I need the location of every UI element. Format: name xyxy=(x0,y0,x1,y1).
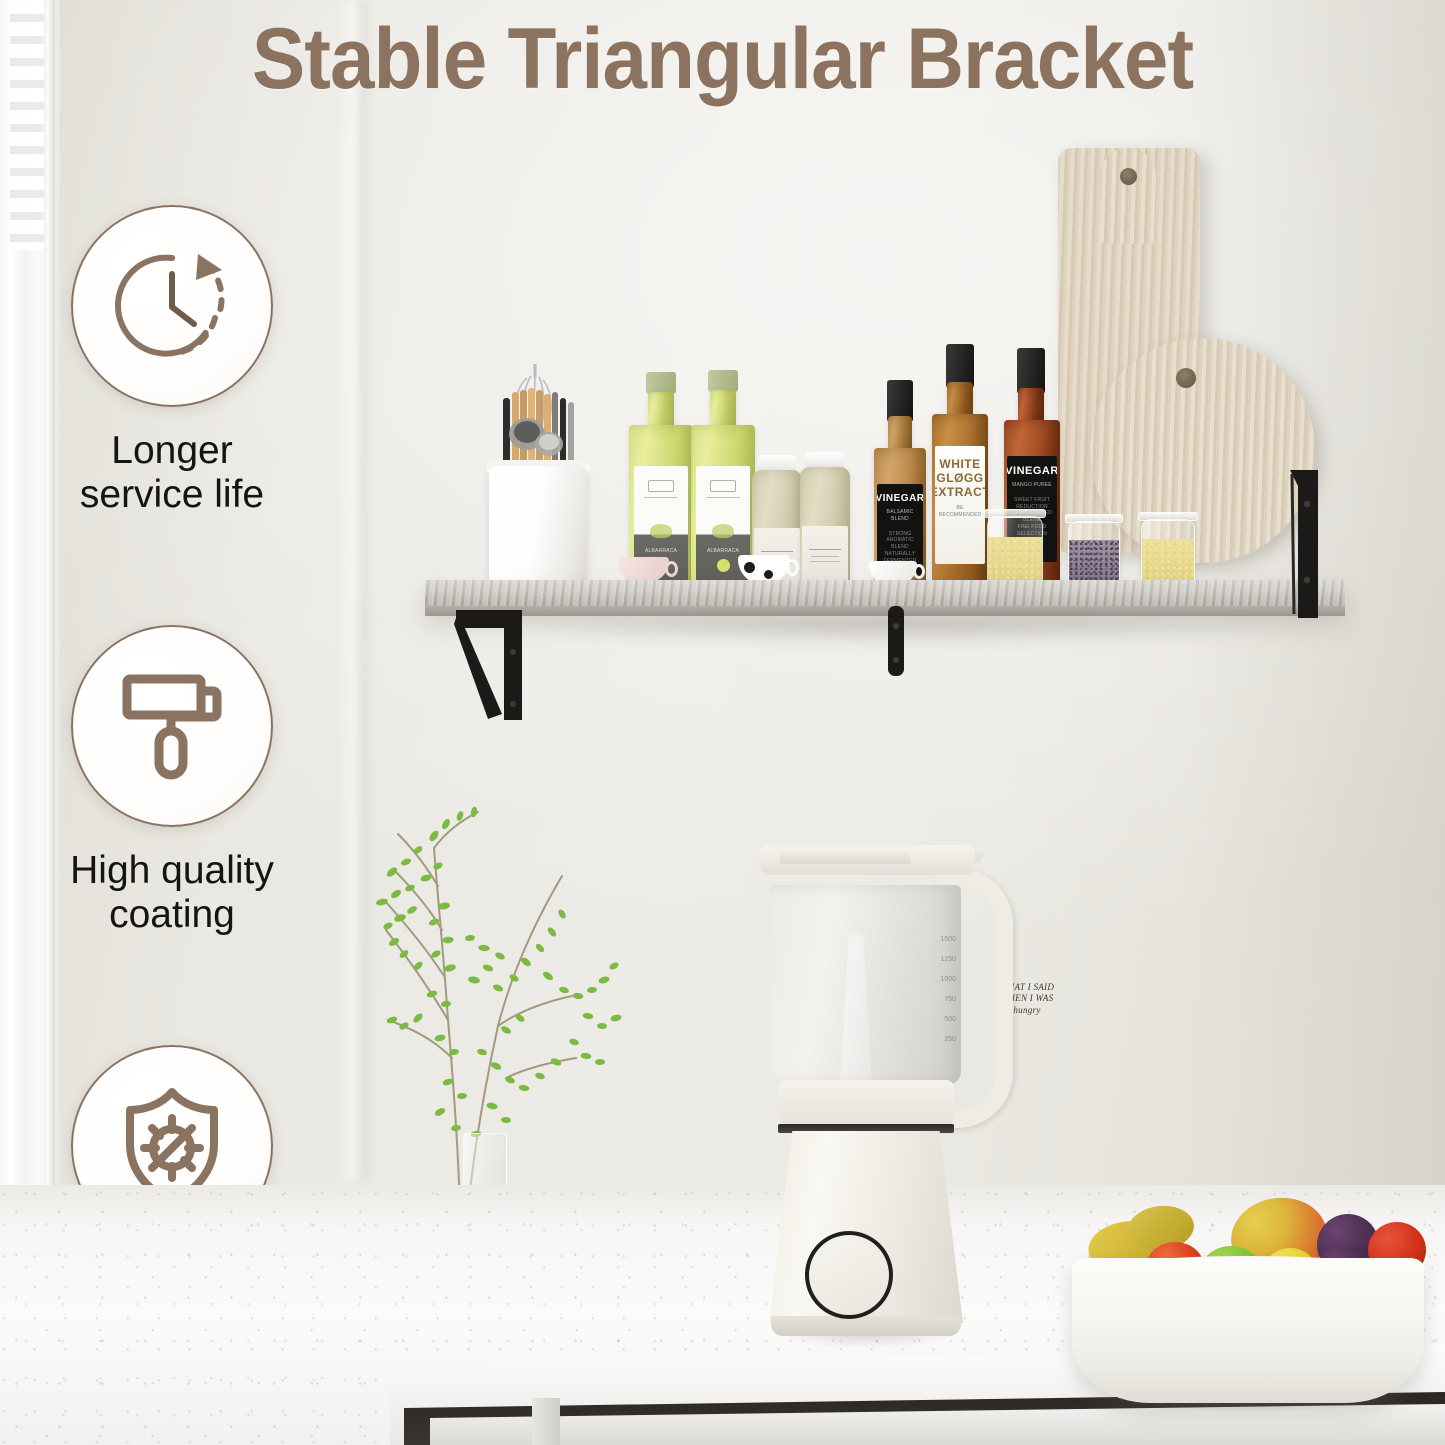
shelf-bracket-left xyxy=(452,606,542,726)
glogg-bottle-label: WHITE GLØGG EXTRACT BE RECOMMENDED xyxy=(935,446,985,564)
shelf-bracket-right xyxy=(1282,468,1326,620)
pink-cup-handle xyxy=(665,561,678,577)
blender-collar xyxy=(778,1080,954,1124)
kitchen-utensils xyxy=(483,362,595,474)
utensil-crock: WHAT I SAID WHEN I WAS hungry xyxy=(489,466,587,590)
measure-mark: 1250 xyxy=(884,950,956,970)
feature-label-line2: coating xyxy=(109,893,235,936)
board-hang-hole xyxy=(1120,168,1137,185)
glogg-sub: BE RECOMMENDED xyxy=(935,505,985,519)
measure-mark: 500 xyxy=(884,1010,956,1030)
feature-label: High quality coating xyxy=(32,849,312,936)
mango-bottle-sub: MANGO PUREE xyxy=(1012,482,1052,489)
juice-bottle-2-label xyxy=(802,526,848,584)
oil-bottle-2-cap xyxy=(708,370,738,392)
oil-bottle-2-brand: ALBARRACA xyxy=(707,548,739,555)
glogg-brand-line2: GLØGG xyxy=(936,472,983,484)
clock-refresh-icon xyxy=(106,240,238,372)
measure-mark: 1500 xyxy=(884,930,956,950)
polka-dot-mug-handle xyxy=(786,559,799,576)
glogg-brand-line3: EXTRACT xyxy=(935,486,985,498)
vinegar-bottle-sub: BALSAMIC BLEND xyxy=(877,509,923,523)
product-marketing-image: Stable Triangular Bracket Longer service… xyxy=(0,0,1445,1445)
shelf-bracket-middle xyxy=(883,606,909,678)
feature-label-line2: service life xyxy=(80,473,264,516)
vinegar-bottle-brand: VINEGAR xyxy=(877,494,923,504)
paddle-cutting-board-handle xyxy=(1100,148,1156,244)
measure-mark: 750 xyxy=(884,990,956,1010)
mug-dot xyxy=(744,562,755,573)
mango-bottle-brand: VINEGAR xyxy=(1007,466,1057,477)
blender-measure-marks: 1500 1250 1000 750 500 250 xyxy=(884,930,956,1080)
feature-label: Longer service life xyxy=(32,429,312,516)
feature-longer-service-life: Longer service life xyxy=(32,205,312,516)
white-cup-handle xyxy=(913,564,925,579)
paint-roller-icon xyxy=(109,663,235,789)
blender-knob-inner[interactable] xyxy=(815,1241,883,1309)
feature-label-line1: High quality xyxy=(70,849,274,892)
blender-lid-top xyxy=(780,852,910,864)
round-board-hang-hole xyxy=(1176,368,1196,388)
blender-foot xyxy=(771,1316,961,1336)
feature-high-quality-coating: High quality coating xyxy=(32,625,312,936)
feature-label-line1: Longer xyxy=(111,429,232,472)
fruit-bowl xyxy=(1072,1258,1424,1403)
glogg-brand-line1: WHITE xyxy=(939,458,980,470)
oil-bottle-1-cap xyxy=(646,372,676,394)
mug-dot xyxy=(764,570,773,579)
cabinet-stile xyxy=(532,1398,560,1445)
measure-mark: 1000 xyxy=(884,970,956,990)
page-title: Stable Triangular Bracket xyxy=(51,16,1395,102)
measure-mark: 250 xyxy=(884,1030,956,1050)
feature-badge-circle xyxy=(71,205,273,407)
oil-bottle-1-brand: ALBARRACA xyxy=(645,548,677,555)
feature-badge-circle xyxy=(71,625,273,827)
